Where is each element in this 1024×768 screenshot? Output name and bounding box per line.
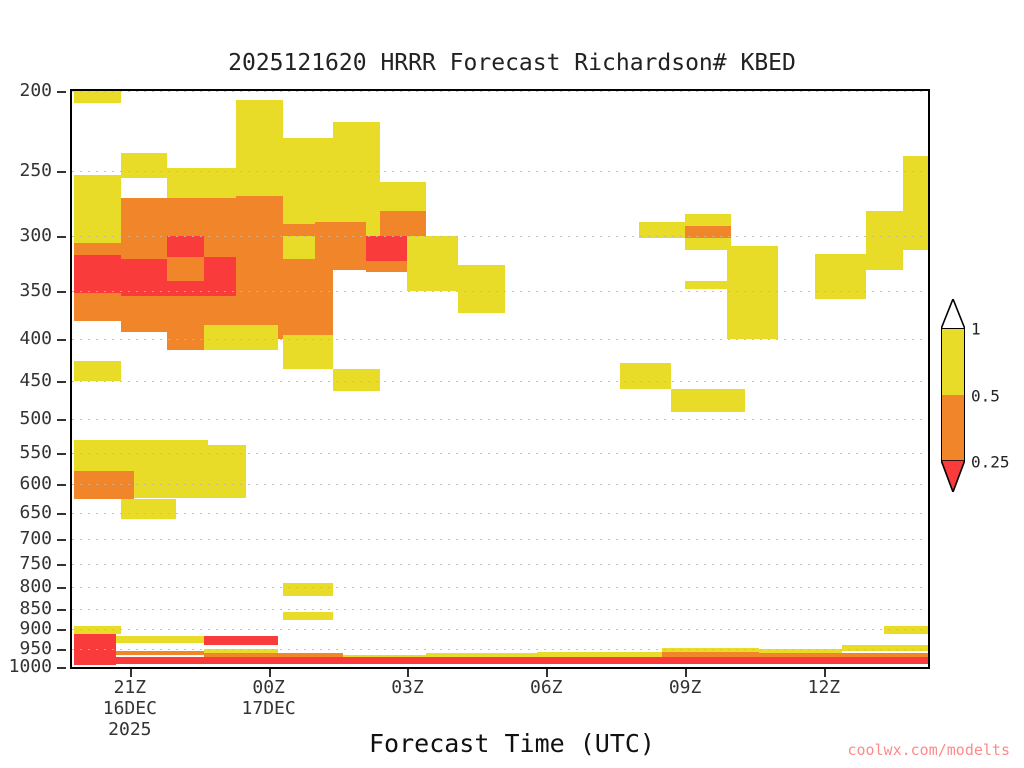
heatmap-cell — [121, 499, 177, 520]
gridline — [72, 91, 928, 92]
heatmap-cell — [884, 626, 930, 634]
gridline — [72, 339, 928, 340]
gridline — [72, 667, 928, 668]
y-axis-tick-label: 600 — [0, 475, 52, 493]
x-axis-tick-line: 09Z — [669, 677, 702, 698]
y-axis-tick-mark — [57, 291, 66, 293]
colorbar-body — [941, 328, 965, 462]
y-axis-tick-mark — [57, 419, 66, 421]
x-axis-tick-line: 21Z — [103, 677, 157, 698]
colorbar-top-arrow-icon — [941, 299, 965, 329]
page-title: 2025121620 HRRR Forecast Richardson# KBE… — [0, 50, 1024, 76]
y-axis-tick-label: 400 — [0, 330, 52, 348]
heatmap-cell — [283, 612, 334, 620]
y-axis-tick-mark — [57, 513, 66, 515]
heatmap-cell — [204, 325, 278, 349]
y-axis-tick-label: 900 — [0, 620, 52, 638]
heatmap-cell — [74, 662, 116, 666]
heatmap-cell — [815, 254, 866, 300]
heatmap-cell — [283, 348, 334, 369]
gridline — [72, 609, 928, 610]
gridline — [72, 484, 928, 485]
y-axis-tick-label: 550 — [0, 444, 52, 462]
heatmap-cell — [74, 91, 120, 103]
heatmap-cell — [685, 238, 731, 250]
gridline — [72, 629, 928, 630]
heatmap-cell — [458, 265, 504, 313]
heatmap-cell — [333, 122, 379, 182]
heatmap-cell — [283, 583, 334, 596]
gridline — [72, 539, 928, 540]
y-axis-tick-mark — [57, 91, 66, 93]
heatmap-cell — [74, 626, 120, 634]
heatmap-cell — [167, 257, 204, 281]
y-axis-tick-mark — [57, 649, 66, 651]
y-axis-tick-mark — [57, 564, 66, 566]
y-axis-tick-mark — [57, 381, 66, 383]
x-axis-tick-line: 03Z — [391, 677, 424, 698]
y-axis-tick-label: 450 — [0, 372, 52, 390]
heatmap-cell — [236, 100, 282, 168]
y-axis-tick-mark — [57, 484, 66, 486]
heatmap-cell — [620, 363, 671, 389]
heatmap-cell — [380, 182, 426, 211]
heatmap-cell — [167, 198, 204, 236]
gridline — [72, 453, 928, 454]
heatmap-cell — [74, 361, 120, 381]
x-axis-tick-mark — [407, 669, 409, 677]
gridline — [72, 236, 928, 237]
y-axis-labels: 2002503003504004505005506006507007508008… — [0, 89, 66, 669]
colorbar-segment-yellow — [942, 329, 964, 395]
y-axis-tick-mark — [57, 629, 66, 631]
heatmap-canvas — [72, 91, 928, 667]
x-axis-tick-line: 00Z — [242, 677, 296, 698]
x-axis-tick-label: 09Z — [669, 677, 702, 698]
richardson-number-colorbar: 1 0.5 0.25 — [941, 300, 965, 490]
heatmap-cell — [116, 651, 204, 655]
heatmap-cell — [116, 657, 930, 664]
y-axis-tick-mark — [57, 453, 66, 455]
y-axis-tick-mark — [57, 339, 66, 341]
heatmap-cell — [204, 641, 278, 645]
gridline — [72, 419, 928, 420]
y-axis-tick-label: 1000 — [0, 658, 52, 676]
heatmap-cell — [671, 389, 745, 412]
y-axis-tick-label: 300 — [0, 227, 52, 245]
y-axis-tick-mark — [57, 539, 66, 541]
gridline — [72, 171, 928, 172]
heatmap-cell — [74, 243, 120, 255]
heatmap-cell — [208, 445, 245, 474]
y-axis-tick-label: 750 — [0, 555, 52, 573]
gridline — [72, 564, 928, 565]
colorbar-tick-1: 1 — [971, 320, 981, 339]
heatmap-cell — [685, 281, 731, 289]
plot-area — [70, 89, 930, 669]
watermark: coolwx.com/modelts — [847, 741, 1010, 759]
heatmap-cell — [366, 261, 408, 272]
x-axis-tick-line: 16DEC — [103, 698, 157, 719]
heatmap-cell — [74, 634, 116, 662]
heatmap-cell — [74, 255, 120, 294]
y-axis-tick-label: 650 — [0, 504, 52, 522]
x-axis-tick-mark — [546, 669, 548, 677]
y-axis-tick-mark — [57, 667, 66, 669]
heatmap-cell — [208, 474, 245, 498]
y-axis-tick-label: 250 — [0, 162, 52, 180]
heatmap-cell — [366, 236, 408, 261]
heatmap-cell — [204, 198, 236, 257]
heatmap-cell — [866, 211, 903, 270]
x-axis-tick-mark — [269, 669, 271, 677]
colorbar-tick-0.5: 0.5 — [971, 387, 1000, 406]
heatmap-cell — [333, 182, 379, 226]
y-axis-tick-mark — [57, 609, 66, 611]
x-axis-tick-label: 06Z — [530, 677, 563, 698]
y-axis-tick-label: 350 — [0, 282, 52, 300]
y-axis-tick-label: 500 — [0, 410, 52, 428]
x-axis-tick-label: 03Z — [391, 677, 424, 698]
gridline — [72, 587, 928, 588]
heatmap-cell — [74, 224, 120, 243]
heatmap-cell — [283, 138, 334, 188]
y-axis-tick-label: 950 — [0, 640, 52, 658]
x-axis-tick-label: 12Z — [808, 677, 841, 698]
heatmap-cell — [74, 440, 208, 471]
x-axis-tick-line: 06Z — [530, 677, 563, 698]
heatmap-cell — [236, 196, 282, 339]
y-axis-tick-mark — [57, 587, 66, 589]
heatmap-cell — [283, 259, 334, 335]
heatmap-cell — [283, 188, 334, 224]
heatmap-cell — [121, 198, 167, 259]
heatmap-cell — [380, 211, 426, 236]
x-axis-tick-line: 12Z — [808, 677, 841, 698]
heatmap-cell — [121, 153, 167, 178]
heatmap-cell — [167, 168, 236, 198]
heatmap-cell — [333, 369, 379, 391]
chart-root: 2025121620 HRRR Forecast Richardson# KBE… — [0, 0, 1024, 768]
gridline — [72, 381, 928, 382]
heatmap-cell — [283, 335, 334, 347]
x-axis-tick-line: 17DEC — [242, 698, 296, 719]
colorbar-tick-0.25: 0.25 — [971, 453, 1010, 472]
colorbar-segment-orange — [942, 395, 964, 461]
x-axis-tick-label: 00Z17DEC — [242, 677, 296, 719]
x-axis-tick-mark — [685, 669, 687, 677]
y-axis-tick-label: 700 — [0, 530, 52, 548]
gridline — [72, 649, 928, 650]
heatmap-cell — [236, 168, 282, 196]
heatmap-cell — [167, 236, 204, 257]
gridline — [72, 291, 928, 292]
heatmap-cell — [727, 246, 778, 340]
heatmap-cell — [74, 175, 120, 224]
y-axis-tick-label: 850 — [0, 600, 52, 618]
heatmap-cell — [74, 293, 120, 320]
heatmap-cell — [685, 214, 731, 226]
colorbar-bottom-arrow-icon — [941, 460, 965, 492]
heatmap-cell — [315, 222, 366, 271]
x-axis-tick-mark — [824, 669, 826, 677]
heatmap-cell — [167, 281, 236, 296]
x-axis-tick-mark — [130, 669, 132, 677]
y-axis-tick-label: 800 — [0, 578, 52, 596]
heatmap-cell — [407, 236, 458, 291]
y-axis-tick-mark — [57, 171, 66, 173]
heatmap-cell — [116, 636, 204, 643]
gridline — [72, 513, 928, 514]
y-axis-tick-mark — [57, 236, 66, 238]
y-axis-tick-label: 200 — [0, 82, 52, 100]
